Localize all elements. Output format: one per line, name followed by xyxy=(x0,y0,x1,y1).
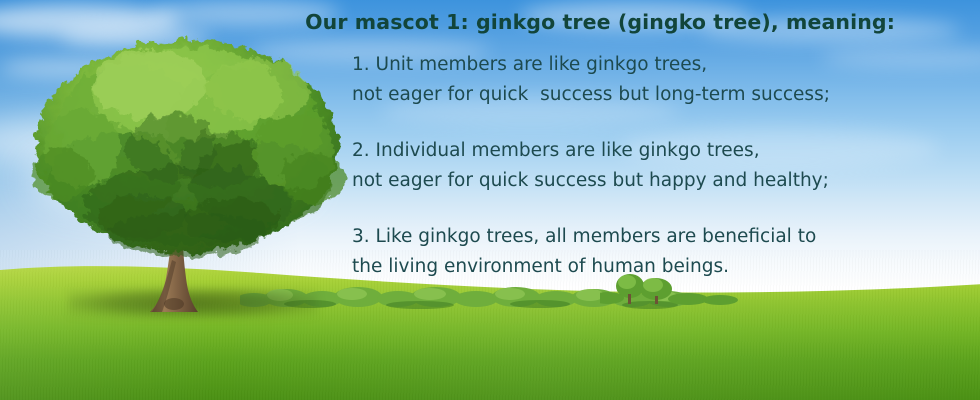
page-title: Our mascot 1: ginkgo tree (gingko tree),… xyxy=(0,10,895,34)
tree-canopy xyxy=(32,40,346,256)
meaning-point-2: 2. Individual members are like ginkgo tr… xyxy=(352,136,912,196)
ginkgo-tree-icon xyxy=(22,28,352,318)
mascot-banner: Our mascot 1: ginkgo tree (gingko tree),… xyxy=(0,0,980,400)
meaning-point-3: 3. Like ginkgo trees, all members are be… xyxy=(352,222,912,282)
meaning-point-1: 1. Unit members are like ginkgo trees, n… xyxy=(352,50,912,110)
